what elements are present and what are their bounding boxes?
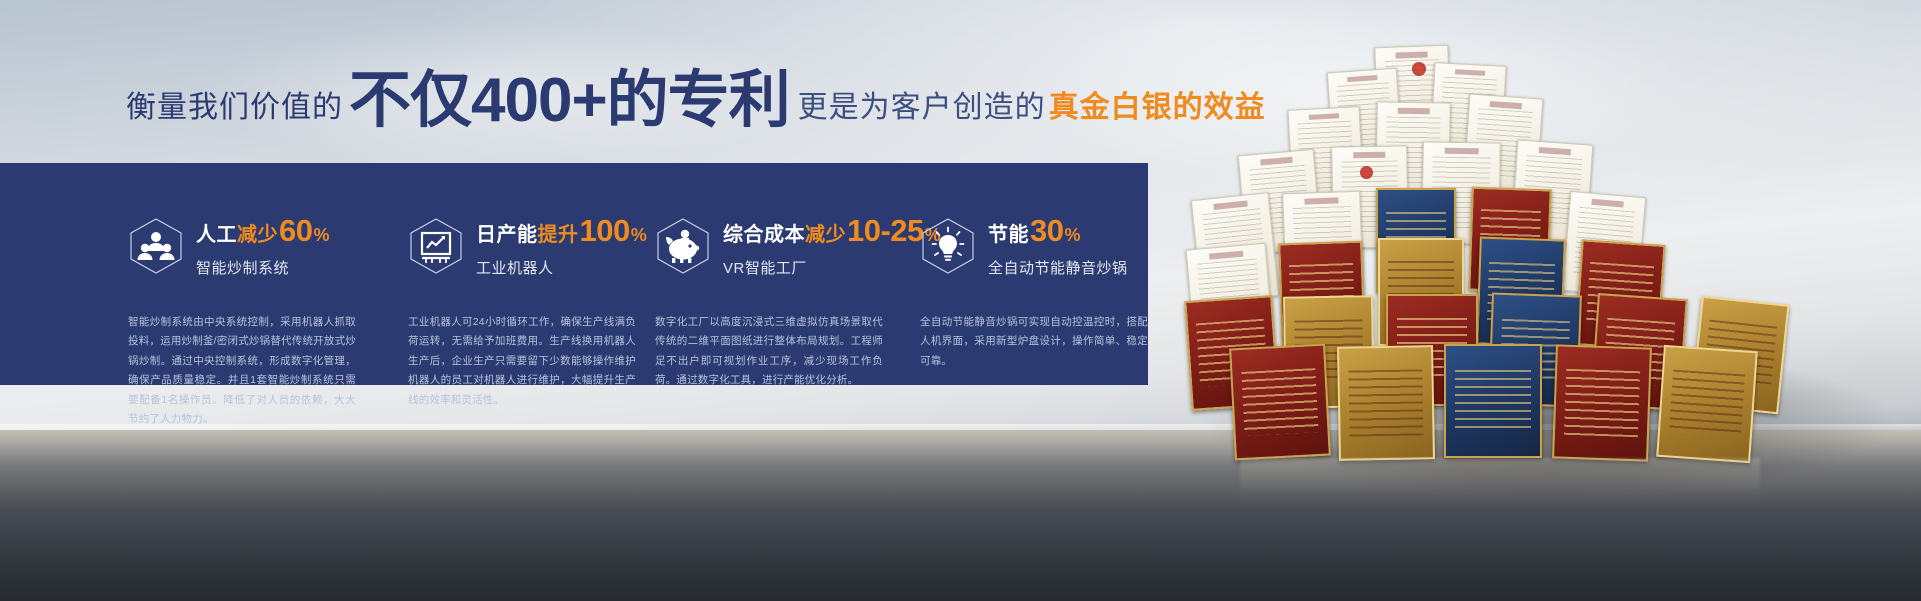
stat-verb: 减少 bbox=[805, 225, 846, 245]
stat-label: 人工 bbox=[196, 225, 237, 245]
stat-label: 日产能 bbox=[476, 225, 538, 245]
stat-number: 100 bbox=[580, 215, 630, 246]
stat-column-1: 人工 减少 60 % 智能炒制系统 智能炒制系统由中央系统控制，采用机器人抓取投… bbox=[128, 163, 376, 279]
certificate-award-wall bbox=[1180, 46, 1921, 476]
stat-body: 智能炒制系统由中央系统控制，采用机器人抓取投料，运用炒制釜/密闭式炒锅替代传统开… bbox=[128, 313, 356, 430]
stats-panel: 人工 减少 60 % 智能炒制系统 智能炒制系统由中央系统控制，采用机器人抓取投… bbox=[0, 163, 1148, 385]
stat-verb: 减少 bbox=[237, 225, 278, 245]
headline-lead: 衡量我们价值的 bbox=[126, 82, 343, 126]
stat-column-4: 节能 30 % 全自动节能静音炒锅 全自动节能静音炒锅可实现自动控温控时，搭配人… bbox=[920, 163, 1168, 279]
stat-headline-4: 节能 30 % bbox=[988, 215, 1128, 246]
chart-monitor-icon bbox=[408, 217, 464, 275]
stat-body: 工业机器人可24小时循环工作，确保生产线满负荷运转，无需给予加班费用。生产线换用… bbox=[408, 313, 636, 410]
stat-body: 数字化工厂以高度沉浸式三维虚拟仿真场景取代传统的二维平面图纸进行整体布局规划。工… bbox=[655, 313, 883, 391]
stat-subtitle: 全自动节能静音炒锅 bbox=[988, 257, 1128, 278]
headline-emphasis: 不仅400+的专利 bbox=[349, 70, 790, 132]
award-plaque bbox=[1444, 344, 1542, 458]
stat-subtitle: 智能炒制系统 bbox=[196, 257, 330, 278]
stat-body: 全自动节能静音炒锅可实现自动控温控时，搭配人机界面，采用新型炉盘设计，操作简单、… bbox=[920, 313, 1148, 371]
banner-root: 衡量我们价值的 不仅400+的专利 更是为客户创造的 真金白银的效益 bbox=[0, 0, 1921, 601]
stat-number: 30 bbox=[1030, 215, 1063, 246]
stat-unit: % bbox=[631, 226, 647, 244]
award-plaque bbox=[1552, 344, 1652, 461]
stat-headline-2: 日产能 提升 100 % bbox=[476, 215, 647, 246]
award-plaque bbox=[1337, 345, 1435, 461]
seal-stamp bbox=[1360, 166, 1373, 179]
stat-unit: % bbox=[1064, 226, 1080, 244]
stat-subtitle: VR智能工厂 bbox=[723, 257, 941, 278]
stat-headline-1: 人工 减少 60 % bbox=[196, 215, 330, 246]
stat-column-3: 综合成本 减少 10-25 % VR智能工厂 数字化工厂以高度沉浸式三维虚拟仿真… bbox=[655, 163, 903, 279]
stat-verb: 提升 bbox=[538, 225, 579, 245]
award-plaque bbox=[1656, 345, 1758, 463]
seal-stamp bbox=[1412, 62, 1426, 76]
stat-number: 60 bbox=[279, 215, 312, 246]
headline-mid: 更是为客户创造的 bbox=[798, 82, 1046, 126]
lightbulb-icon bbox=[920, 217, 976, 275]
reflection bbox=[1240, 458, 1760, 498]
stat-column-2: 日产能 提升 100 % 工业机器人 工业机器人可24小时循环工作，确保生产线满… bbox=[408, 163, 656, 279]
stat-headline-3: 综合成本 减少 10-25 % bbox=[723, 215, 941, 246]
stat-subtitle: 工业机器人 bbox=[476, 257, 647, 278]
stat-number: 10-25 bbox=[847, 215, 924, 246]
stat-unit: % bbox=[313, 226, 329, 244]
stat-label: 综合成本 bbox=[723, 225, 805, 245]
stat-label: 节能 bbox=[988, 225, 1029, 245]
people-group-icon bbox=[128, 217, 184, 275]
piggy-bank-icon bbox=[655, 217, 711, 275]
award-plaque bbox=[1229, 344, 1331, 461]
headline: 衡量我们价值的 不仅400+的专利 更是为客户创造的 真金白银的效益 bbox=[126, 66, 1266, 130]
